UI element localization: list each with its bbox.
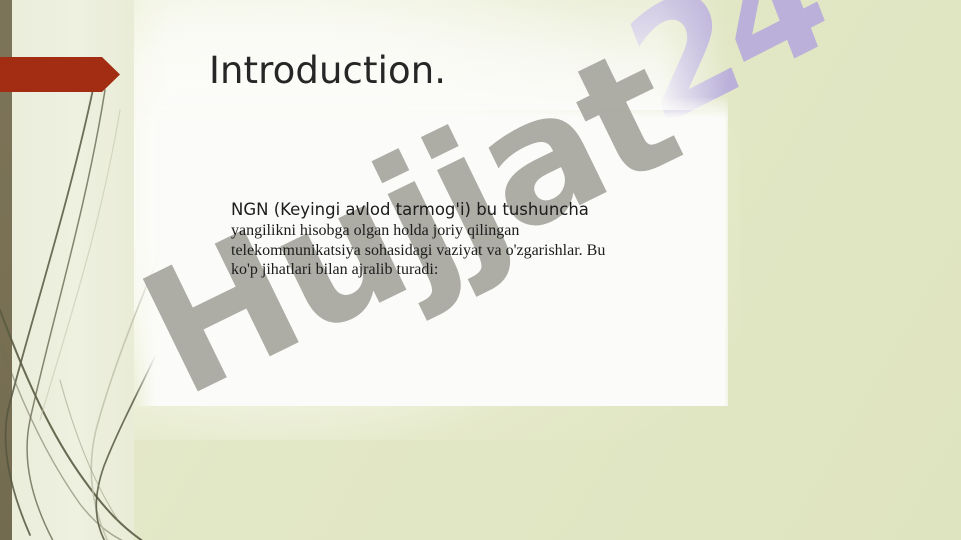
presentation-slide: 24 Hujjat Introduction. NGN (Keyingi avl… — [0, 0, 961, 540]
body-line: ko'p jihatlari bilan ajralib turadi: — [231, 260, 661, 280]
slide-body: NGN (Keyingi avlod tarmog'i) bu tushunch… — [231, 200, 661, 280]
body-rest-lines: yangilikni hisobga olgan holda joriy qil… — [231, 221, 661, 280]
slide-title: Introduction. — [209, 50, 446, 91]
body-line: yangilikni hisobga olgan holda joriy qil… — [231, 221, 661, 241]
body-line: telekommunikatsiya sohasidagi vaziyat va… — [231, 241, 661, 261]
red-arrow-banner — [0, 57, 120, 92]
body-lead-line: NGN (Keyingi avlod tarmog'i) bu tushunch… — [231, 200, 661, 220]
